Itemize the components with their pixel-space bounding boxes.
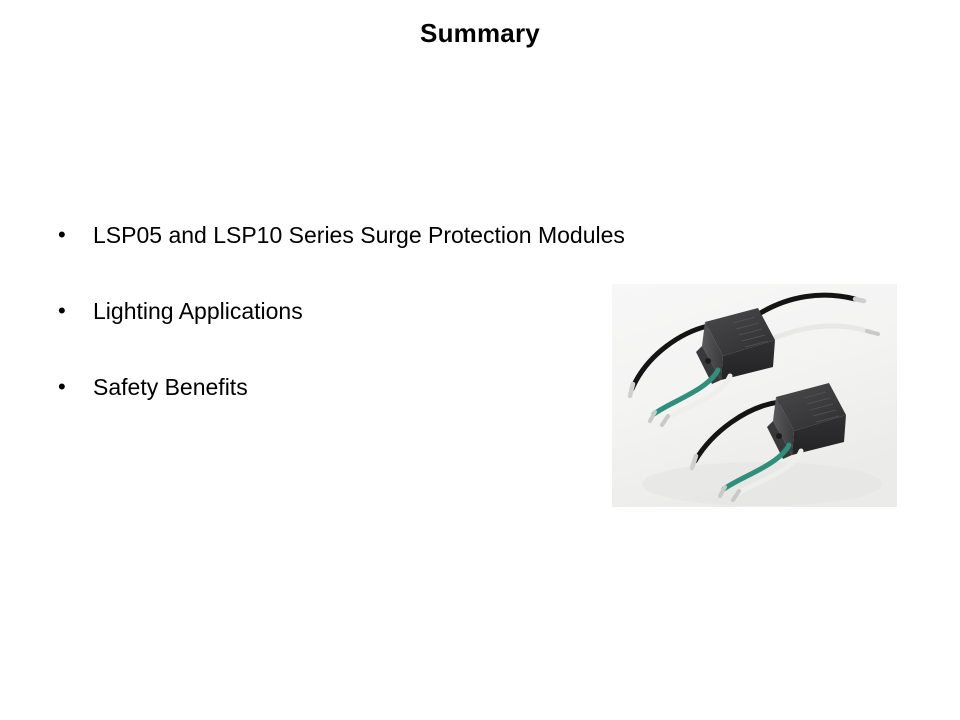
product-photo-graphic [612,284,897,507]
bullet-dot-icon: • [58,218,72,252]
bullet-dot-icon: • [58,370,72,404]
bullet-list: • LSP05 and LSP10 Series Surge Protectio… [55,218,615,446]
bullet-item-label: Lighting Applications [93,298,303,324]
list-item: • Safety Benefits [55,370,615,446]
bullet-dot-icon: • [58,294,72,328]
slide-canvas: Summary • LSP05 and LSP10 Series Surge P… [0,0,960,720]
page-title: Summary [0,17,960,49]
bullet-item-label: LSP05 and LSP10 Series Surge Protection … [93,222,625,248]
bullet-item-label: Safety Benefits [93,374,248,400]
list-item: • LSP05 and LSP10 Series Surge Protectio… [55,218,615,294]
surge-protection-modules-photo [612,284,897,507]
list-item: • Lighting Applications [55,294,615,370]
